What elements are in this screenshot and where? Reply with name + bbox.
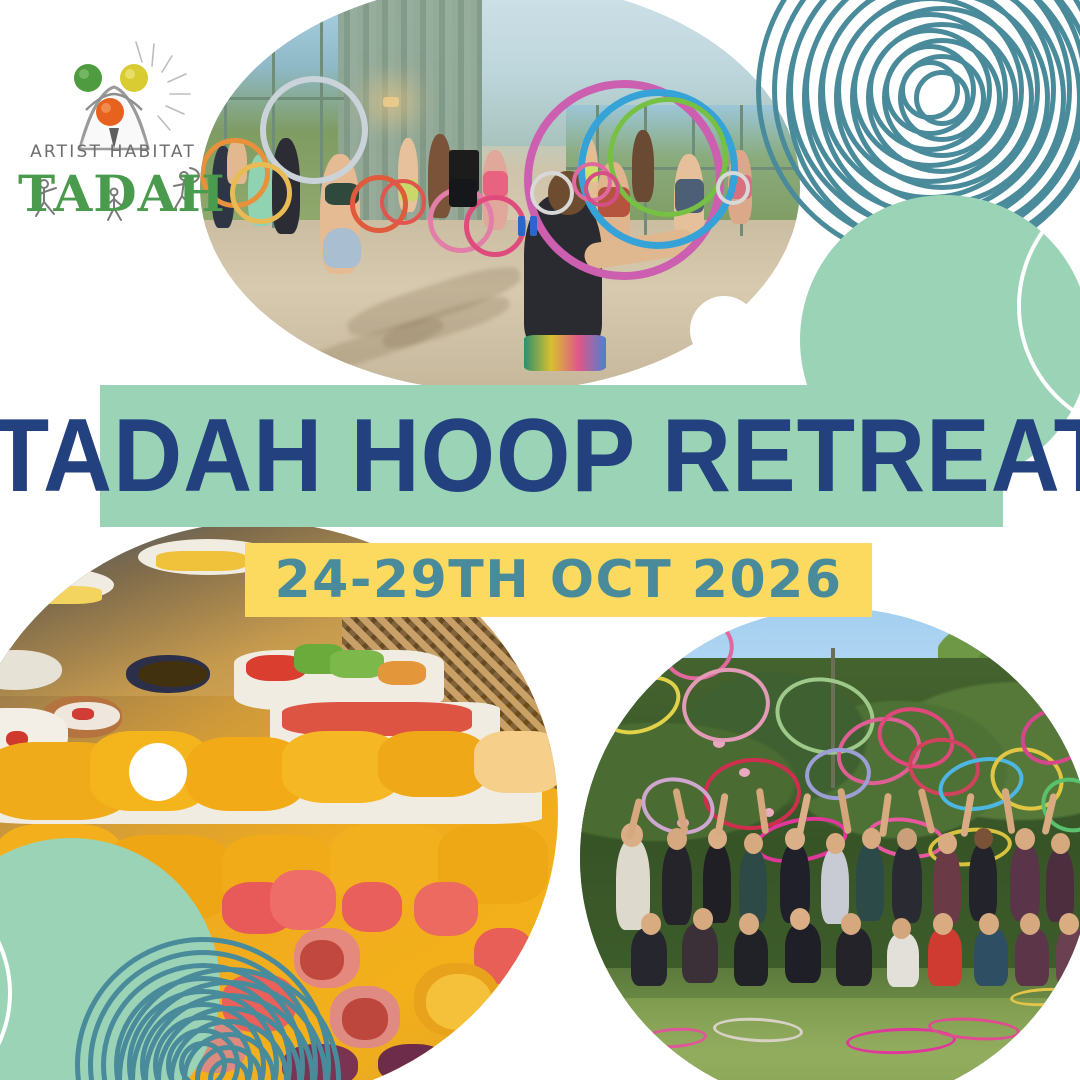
artist-habitat-tadah-logo[interactable]: ARTIST HABITAT TADAH xyxy=(18,24,208,234)
page-title: TADAH HOOP RETREAT xyxy=(0,404,1080,508)
logo-tagline: ARTIST HABITAT xyxy=(18,142,208,162)
title-banner: TADAH HOOP RETREAT xyxy=(100,385,1003,527)
white-dot-fruit xyxy=(129,743,187,801)
photo-group-outdoors xyxy=(580,608,1080,1080)
concentric-rings-bottom-left-offset xyxy=(118,968,338,1080)
logo-wordmark: TADAH xyxy=(18,164,208,223)
orange-ball xyxy=(96,98,124,126)
white-dot-studio xyxy=(690,296,758,364)
green-ball xyxy=(74,64,102,92)
date-banner: 24-29TH OCT 2026 xyxy=(245,543,872,617)
event-dates: 24-29TH OCT 2026 xyxy=(274,554,842,606)
poster-canvas: ARTIST HABITAT TADAH TADAH HOOP RETREAT … xyxy=(0,0,1080,1080)
yellow-ball xyxy=(120,64,148,92)
